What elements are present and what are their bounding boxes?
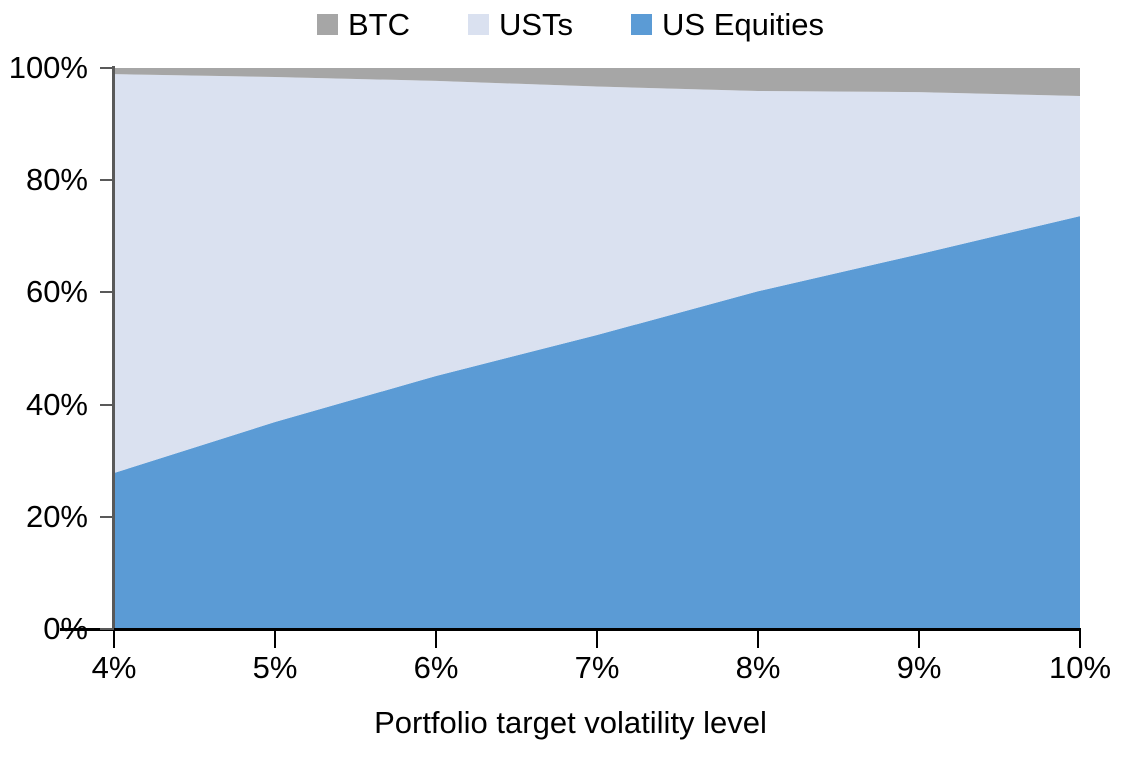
- plot-area: [114, 68, 1080, 629]
- legend-item-btc[interactable]: BTC: [317, 9, 410, 40]
- x-tick-label-9: 9%: [897, 652, 942, 683]
- y-tick-80: [100, 179, 114, 181]
- legend-swatch-btc: [317, 14, 338, 35]
- y-tick-100: [100, 67, 114, 69]
- x-tick-10: [1079, 631, 1081, 648]
- y-tick-label-0: 0%: [43, 613, 88, 644]
- x-tick-label-4: 4%: [92, 652, 137, 683]
- legend-item-usts[interactable]: USTs: [468, 9, 573, 40]
- x-axis-title: Portfolio target volatility level: [0, 707, 1141, 738]
- x-tick-label-8: 8%: [736, 652, 781, 683]
- y-axis-line: [112, 66, 115, 631]
- legend-item-us-equities[interactable]: US Equities: [631, 9, 824, 40]
- x-tick-6: [435, 631, 437, 648]
- x-tick-8: [757, 631, 759, 648]
- x-tick-4: [113, 631, 115, 648]
- legend-swatch-usts: [468, 14, 489, 35]
- x-tick-9: [918, 631, 920, 648]
- x-tick-label-6: 6%: [414, 652, 459, 683]
- x-tick-7: [596, 631, 598, 648]
- y-tick-20: [100, 516, 114, 518]
- x-tick-5: [274, 631, 276, 648]
- x-tick-label-7: 7%: [575, 652, 620, 683]
- legend-swatch-us-equities: [631, 14, 652, 35]
- y-tick-label-100: 100%: [9, 52, 88, 83]
- legend-label-btc: BTC: [348, 9, 410, 40]
- x-tick-label-5: 5%: [253, 652, 298, 683]
- y-tick-label-80: 80%: [26, 164, 88, 195]
- x-axis-line: [60, 628, 1081, 631]
- y-tick-label-40: 40%: [26, 389, 88, 420]
- y-tick-60: [100, 291, 114, 293]
- x-tick-label-10: 10%: [1049, 652, 1111, 683]
- chart-legend: BTC USTs US Equities: [0, 4, 1141, 44]
- y-tick-40: [100, 404, 114, 406]
- y-tick-label-20: 20%: [26, 501, 88, 532]
- area-series-svg: [114, 68, 1080, 629]
- stacked-area-chart: BTC USTs US Equities 0%20%40%60%80%100% …: [0, 0, 1141, 763]
- y-tick-0: [100, 628, 114, 630]
- legend-label-usts: USTs: [499, 9, 573, 40]
- legend-label-us-equities: US Equities: [662, 9, 824, 40]
- y-tick-label-60: 60%: [26, 276, 88, 307]
